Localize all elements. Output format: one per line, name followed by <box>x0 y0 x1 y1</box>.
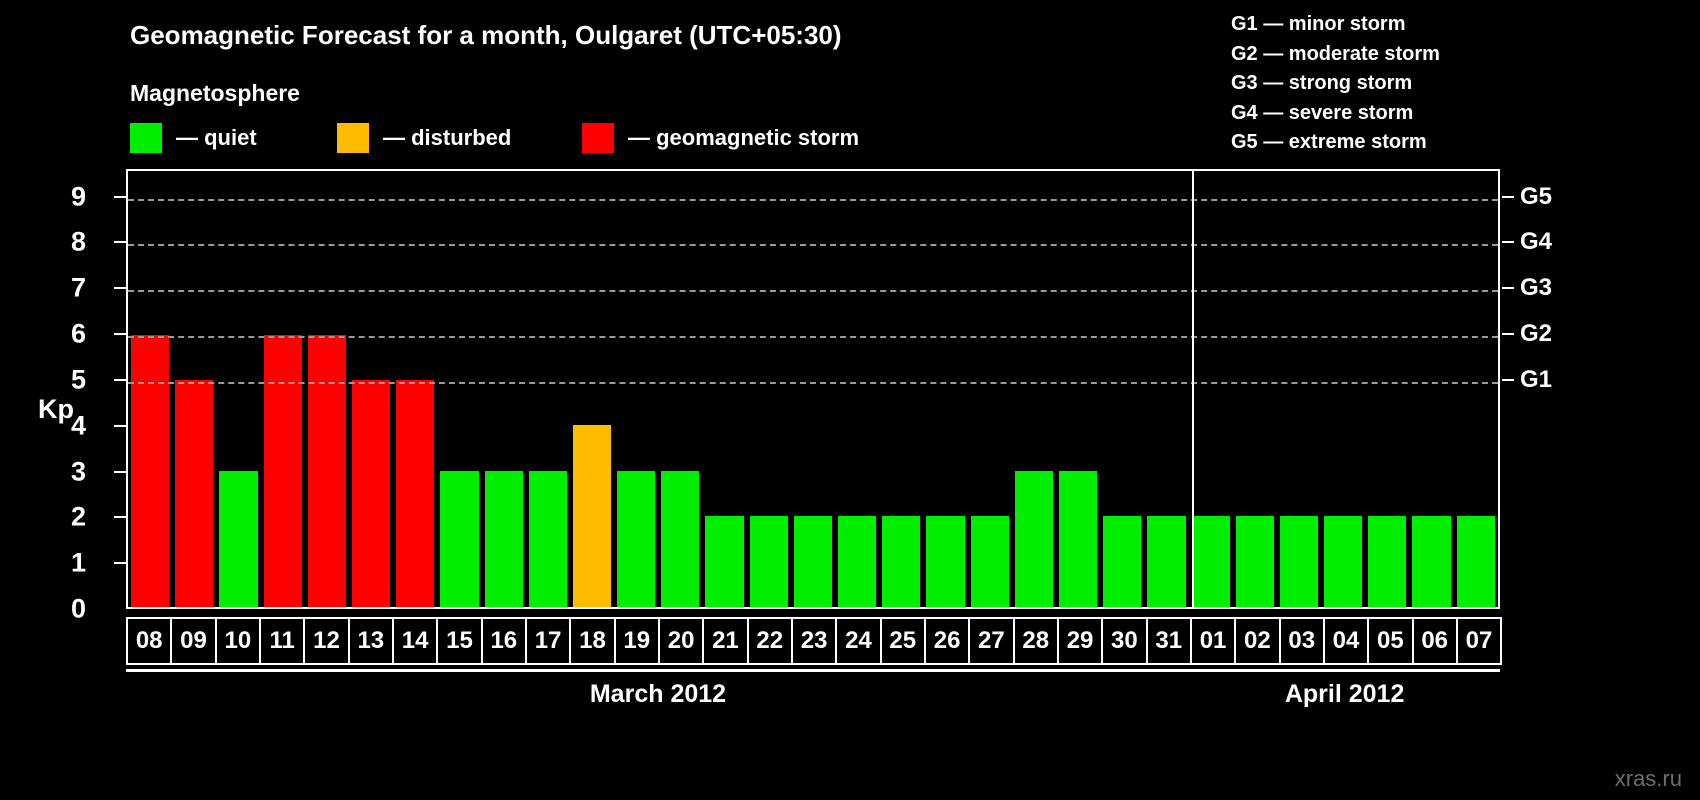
bar-25[interactable] <box>882 516 920 607</box>
legend-storm-swatch-icon <box>582 123 614 153</box>
date-cell-08[interactable]: 08 <box>126 617 172 665</box>
bar-03[interactable] <box>1280 516 1318 607</box>
y-tick-label-0: 0 <box>71 594 86 625</box>
bar-cell-06[interactable] <box>1409 171 1453 607</box>
bar-31[interactable] <box>1147 516 1185 607</box>
date-cell-22[interactable]: 22 <box>747 617 793 665</box>
legend-storm-label: — geomagnetic storm <box>628 125 859 151</box>
date-cell-09[interactable]: 09 <box>170 617 216 665</box>
y-axis-title: Kp <box>38 394 74 425</box>
y-tick-mark-7 <box>114 287 126 289</box>
legend-quiet-swatch-icon <box>130 123 162 153</box>
bar-16[interactable] <box>485 471 523 607</box>
date-cell-26[interactable]: 26 <box>924 617 970 665</box>
gridline-kp-8 <box>128 244 1498 246</box>
bar-08[interactable] <box>131 335 169 608</box>
bar-cell-01[interactable] <box>1189 171 1233 607</box>
legend-quiet-label: — quiet <box>176 125 257 151</box>
bar-cell-19[interactable] <box>614 171 658 607</box>
date-cell-14[interactable]: 14 <box>392 617 438 665</box>
legend-disturbed: — disturbed <box>337 122 511 154</box>
bar-cell-18[interactable] <box>570 171 614 607</box>
legend-disturbed-swatch-icon <box>337 123 369 153</box>
bar-24[interactable] <box>838 516 876 607</box>
page-title: Geomagnetic Forecast for a month, Oulgar… <box>130 20 842 51</box>
month-label-march: March 2012 <box>590 680 726 709</box>
bar-cell-07[interactable] <box>1454 171 1498 607</box>
date-cell-04[interactable]: 04 <box>1323 617 1369 665</box>
bar-cell-28[interactable] <box>1012 171 1056 607</box>
date-cell-23[interactable]: 23 <box>791 617 837 665</box>
bar-05[interactable] <box>1368 516 1406 607</box>
bar-cell-04[interactable] <box>1321 171 1365 607</box>
bar-21[interactable] <box>705 516 743 607</box>
date-cell-02[interactable]: 02 <box>1234 617 1280 665</box>
date-cell-15[interactable]: 15 <box>436 617 482 665</box>
chart-plot-area <box>126 169 1500 609</box>
bar-cell-14[interactable] <box>393 171 437 607</box>
y-tick-label-1: 1 <box>71 548 86 579</box>
bar-22[interactable] <box>750 516 788 607</box>
month-divider <box>1192 171 1194 607</box>
y-tick-mark-4 <box>114 425 126 427</box>
bar-cell-20[interactable] <box>658 171 702 607</box>
bar-cell-21[interactable] <box>702 171 746 607</box>
bar-cell-08[interactable] <box>128 171 172 607</box>
bar-11[interactable] <box>264 335 302 608</box>
watermark: xras.ru <box>1615 766 1682 792</box>
date-cell-17[interactable]: 17 <box>525 617 571 665</box>
g-tick-label-G4: G4 <box>1520 228 1552 256</box>
g-tick-label-G1: G1 <box>1520 366 1552 394</box>
gridline-kp-9 <box>128 199 1498 201</box>
bar-14[interactable] <box>396 380 434 607</box>
y-tick-mark-3 <box>114 471 126 473</box>
bar-cell-05[interactable] <box>1365 171 1409 607</box>
date-cell-05[interactable]: 05 <box>1367 617 1413 665</box>
y-tick-label-9: 9 <box>71 181 86 212</box>
bar-cell-17[interactable] <box>526 171 570 607</box>
y-tick-label-4: 4 <box>71 410 86 441</box>
y-tick-mark-2 <box>114 516 126 518</box>
bar-29[interactable] <box>1059 471 1097 607</box>
bar-cell-23[interactable] <box>791 171 835 607</box>
date-cell-01[interactable]: 01 <box>1190 617 1236 665</box>
bar-06[interactable] <box>1412 516 1450 607</box>
gridline-kp-5 <box>128 382 1498 384</box>
g-tick-label-G5: G5 <box>1520 183 1552 211</box>
date-cell-11[interactable]: 11 <box>259 617 305 665</box>
date-cell-30[interactable]: 30 <box>1101 617 1147 665</box>
date-cell-24[interactable]: 24 <box>835 617 881 665</box>
bar-27[interactable] <box>971 516 1009 607</box>
bar-cell-26[interactable] <box>923 171 967 607</box>
y-tick-label-3: 3 <box>71 456 86 487</box>
bar-cell-10[interactable] <box>216 171 260 607</box>
bar-07[interactable] <box>1457 516 1495 607</box>
g-scale-row-1: G1 — minor storm <box>1231 10 1440 40</box>
g-scale-row-2: G2 — moderate storm <box>1231 40 1440 70</box>
bar-28[interactable] <box>1015 471 1053 607</box>
g-tick-mark-G5 <box>1502 196 1514 198</box>
g-scale-row-5: G5 — extreme storm <box>1231 128 1440 158</box>
bar-cell-12[interactable] <box>305 171 349 607</box>
y-tick-label-8: 8 <box>71 227 86 258</box>
date-cell-16[interactable]: 16 <box>481 617 527 665</box>
date-cell-31[interactable]: 31 <box>1146 617 1192 665</box>
bar-cell-16[interactable] <box>482 171 526 607</box>
legend-storm: — geomagnetic storm <box>582 122 859 154</box>
gridline-kp-6 <box>128 336 1498 338</box>
bar-cell-31[interactable] <box>1144 171 1188 607</box>
date-cell-12[interactable]: 12 <box>303 617 349 665</box>
date-cell-18[interactable]: 18 <box>569 617 615 665</box>
g-tick-mark-G4 <box>1502 241 1514 243</box>
bar-13[interactable] <box>352 380 390 607</box>
date-cell-10[interactable]: 10 <box>215 617 261 665</box>
bar-cell-27[interactable] <box>968 171 1012 607</box>
y-tick-label-2: 2 <box>71 502 86 533</box>
bar-cell-11[interactable] <box>261 171 305 607</box>
bar-23[interactable] <box>794 516 832 607</box>
y-tick-label-7: 7 <box>71 273 86 304</box>
y-tick-mark-9 <box>114 196 126 198</box>
bar-cell-15[interactable] <box>437 171 481 607</box>
bar-15[interactable] <box>440 471 478 607</box>
date-cell-29[interactable]: 29 <box>1057 617 1103 665</box>
date-cell-28[interactable]: 28 <box>1013 617 1059 665</box>
bar-04[interactable] <box>1324 516 1362 607</box>
y-tick-mark-6 <box>114 333 126 335</box>
g-tick-label-G2: G2 <box>1520 320 1552 348</box>
y-tick-label-6: 6 <box>71 319 86 350</box>
legend-disturbed-label: — disturbed <box>383 125 511 151</box>
bar-01[interactable] <box>1192 516 1230 607</box>
g-tick-label-G3: G3 <box>1520 274 1552 302</box>
bar-17[interactable] <box>529 471 567 607</box>
bar-18[interactable] <box>573 425 611 607</box>
g-scale-legend: G1 — minor stormG2 — moderate stormG3 — … <box>1231 10 1440 158</box>
month-label-april: April 2012 <box>1285 680 1405 709</box>
date-cell-03[interactable]: 03 <box>1279 617 1325 665</box>
date-cell-06[interactable]: 06 <box>1412 617 1458 665</box>
g-scale-row-4: G4 — severe storm <box>1231 99 1440 129</box>
date-axis-strip: 0809101112131415161718192021222324252627… <box>126 617 1500 665</box>
bar-26[interactable] <box>926 516 964 607</box>
bar-20[interactable] <box>661 471 699 607</box>
bar-cell-02[interactable] <box>1233 171 1277 607</box>
y-tick-mark-1 <box>114 562 126 564</box>
bar-09[interactable] <box>175 380 213 607</box>
bar-cell-22[interactable] <box>747 171 791 607</box>
gridline-kp-7 <box>128 290 1498 292</box>
y-tick-mark-5 <box>114 379 126 381</box>
date-cell-27[interactable]: 27 <box>968 617 1014 665</box>
bar-10[interactable] <box>219 471 257 607</box>
bar-cell-24[interactable] <box>835 171 879 607</box>
bar-series <box>128 171 1498 607</box>
date-cell-20[interactable]: 20 <box>658 617 704 665</box>
g-tick-mark-G3 <box>1502 287 1514 289</box>
bar-cell-25[interactable] <box>879 171 923 607</box>
bar-cell-13[interactable] <box>349 171 393 607</box>
subtitle-magnetosphere: Magnetosphere <box>130 80 300 107</box>
y-tick-label-5: 5 <box>71 364 86 395</box>
bar-02[interactable] <box>1236 516 1274 607</box>
bar-cell-30[interactable] <box>1100 171 1144 607</box>
date-cell-25[interactable]: 25 <box>880 617 926 665</box>
legend-quiet: — quiet <box>130 122 257 154</box>
bar-cell-03[interactable] <box>1277 171 1321 607</box>
bar-cell-29[interactable] <box>1056 171 1100 607</box>
date-cell-19[interactable]: 19 <box>614 617 660 665</box>
bar-cell-09[interactable] <box>172 171 216 607</box>
g-scale-row-3: G3 — strong storm <box>1231 69 1440 99</box>
bar-12[interactable] <box>308 335 346 608</box>
date-cell-07[interactable]: 07 <box>1456 617 1502 665</box>
g-tick-mark-G2 <box>1502 333 1514 335</box>
g-tick-mark-G1 <box>1502 379 1514 381</box>
bar-19[interactable] <box>617 471 655 607</box>
x-axis-baseline <box>126 669 1500 672</box>
bar-30[interactable] <box>1103 516 1141 607</box>
date-cell-13[interactable]: 13 <box>348 617 394 665</box>
date-cell-21[interactable]: 21 <box>702 617 748 665</box>
y-tick-mark-8 <box>114 241 126 243</box>
